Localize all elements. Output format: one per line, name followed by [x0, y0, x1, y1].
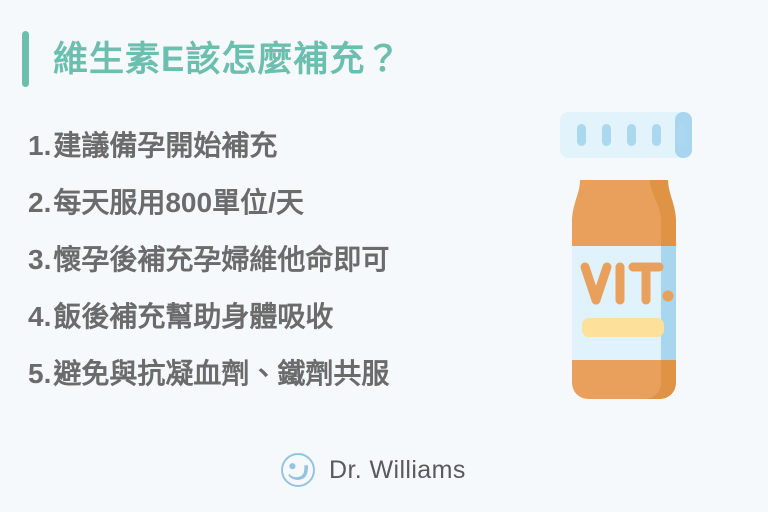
list-item-index: 4. [28, 301, 51, 333]
doctor-circle-logo-icon [280, 452, 316, 488]
list-item-index: 1. [28, 130, 51, 162]
list-item: 3. 懷孕後補充孕婦維他命即可 [28, 238, 518, 295]
infographic-card: 維生素E該怎麼補充？ 1. 建議備孕開始補充 2. 每天服用800單位/天 3.… [0, 0, 768, 512]
page-title: 維生素E該怎麼補充？ [53, 42, 401, 77]
list-item-index: 2. [28, 187, 51, 219]
list-item-label: 建議備孕開始補充 [53, 124, 277, 164]
list-item-label: 懷孕後補充孕婦維他命即可 [53, 238, 389, 278]
list-item-label: 每天服用800單位/天 [53, 181, 304, 221]
list-item: 1. 建議備孕開始補充 [28, 124, 518, 181]
title-accent-bar [22, 31, 29, 87]
brand-footer: Dr. Williams [280, 450, 466, 490]
bottle-label-period [663, 291, 674, 302]
list-item: 2. 每天服用800單位/天 [28, 181, 518, 238]
bottle-cap-group [560, 112, 692, 158]
bottle-label-yellow-bar [582, 318, 664, 337]
vitamin-bottle-illustration [520, 90, 730, 420]
page-title-block: 維生素E該怎麼補充？ [22, 28, 401, 90]
list-item: 4. 飯後補充幫助身體吸收 [28, 295, 518, 352]
tips-list: 1. 建議備孕開始補充 2. 每天服用800單位/天 3. 懷孕後補充孕婦維他命… [28, 124, 518, 409]
list-item: 5. 避免與抗凝血劑、鐵劑共服 [28, 352, 518, 409]
list-item-label: 避免與抗凝血劑、鐵劑共服 [53, 352, 389, 392]
brand-name: Dr. Williams [329, 458, 466, 483]
list-item-label: 飯後補充幫助身體吸收 [53, 295, 333, 335]
list-item-index: 5. [28, 358, 51, 390]
list-item-index: 3. [28, 244, 51, 276]
